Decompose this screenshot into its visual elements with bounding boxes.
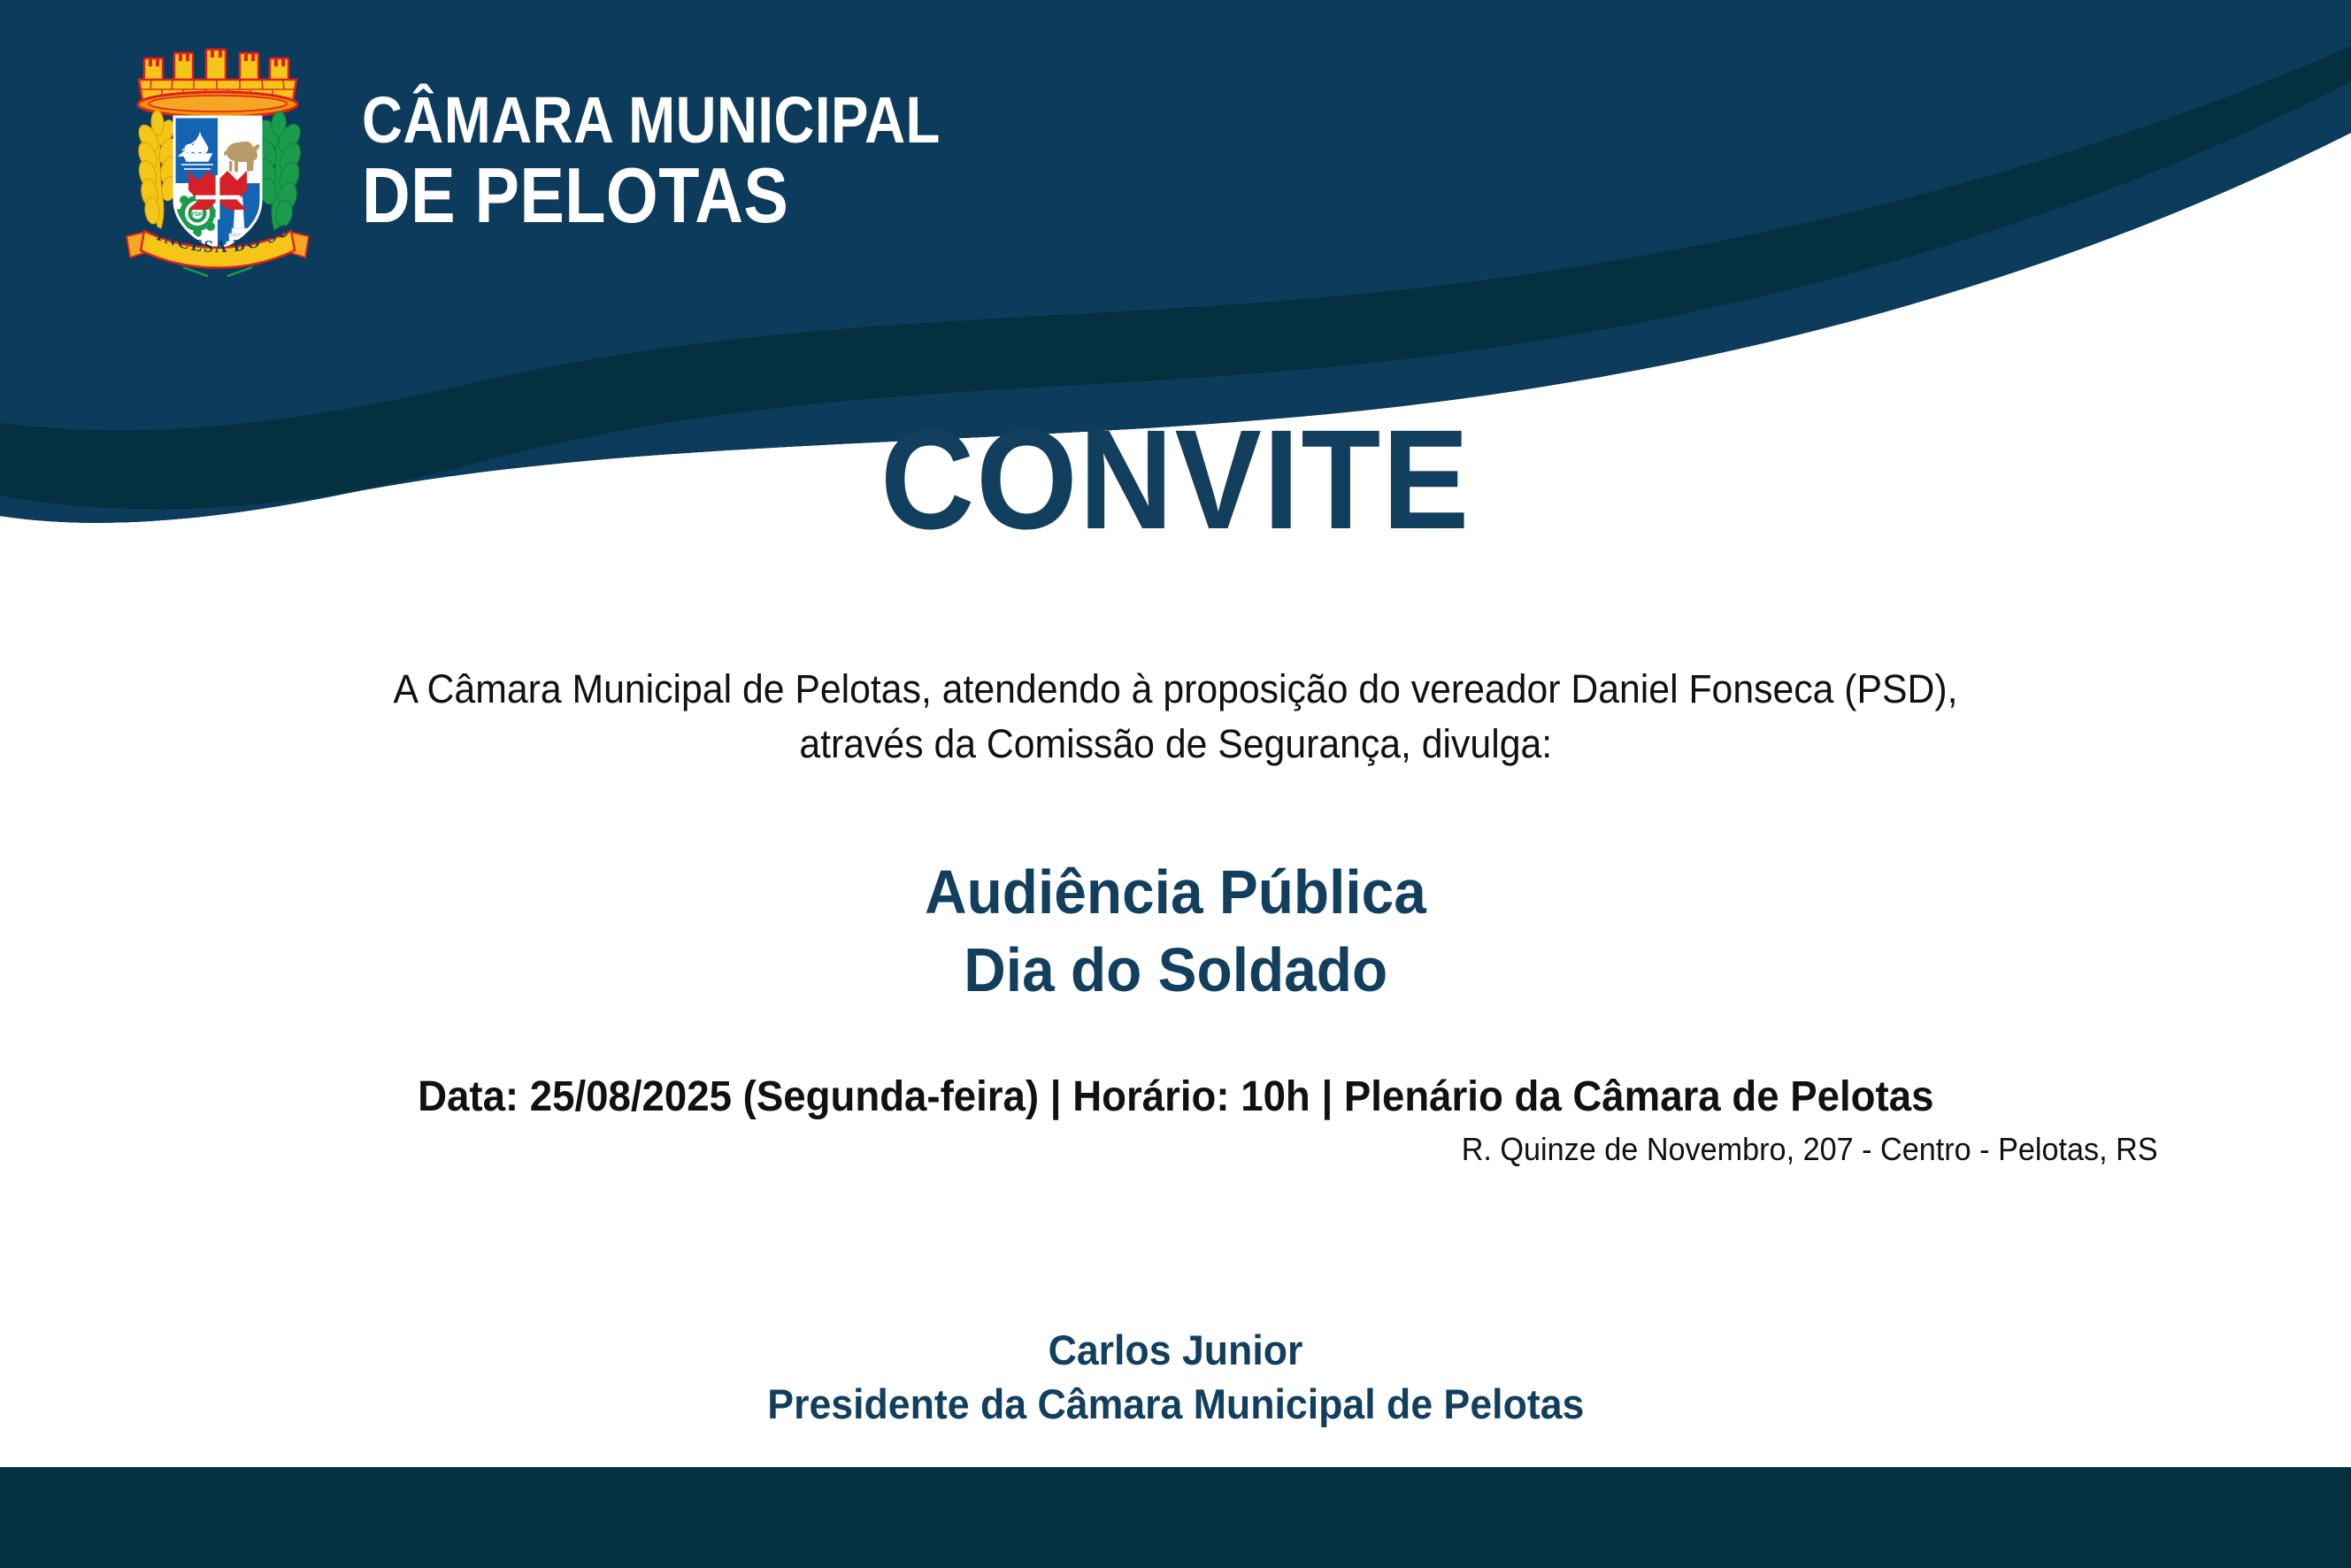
- signature-role-row: Presidente da Câmara Municipal de Pelota…: [0, 1377, 2351, 1431]
- mural-crown-icon: [138, 50, 297, 117]
- event-address-line: R. Quinze de Novembro, 207 - Centro - Pe…: [0, 1131, 2351, 1168]
- event-datetime-line: Data: 25/08/2025 (Segunda-feira) | Horár…: [0, 1072, 2351, 1121]
- laurel-branch-icon: [255, 111, 304, 230]
- footer-bar: [0, 1467, 2351, 1568]
- event-title-line-1: Audiência Pública: [925, 854, 1426, 932]
- header-title-line1: CÂMARA MUNICIPAL: [362, 88, 941, 153]
- header-title-line2: DE PELOTAS: [362, 158, 941, 234]
- event-title: Audiência Pública Dia do Soldado: [0, 854, 2351, 1009]
- event-datetime-text: Data: 25/08/2025 (Segunda-feira) | Horár…: [418, 1072, 1933, 1121]
- event-title-line-2: Dia do Soldado: [964, 932, 1387, 1010]
- event-address-text: R. Quinze de Novembro, 207 - Centro - Pe…: [1461, 1131, 2157, 1168]
- intro-paragraph: A Câmara Municipal de Pelotas, atendendo…: [0, 662, 2351, 772]
- intro-line-1: A Câmara Municipal de Pelotas, atendendo…: [393, 662, 1957, 717]
- signature-role: Presidente da Câmara Municipal de Pelota…: [767, 1377, 1584, 1431]
- header-wordmark: CÂMARA MUNICIPAL DE PELOTAS: [362, 88, 1034, 234]
- wheat-branch-icon: [135, 111, 179, 228]
- signature-block: Carlos Junior Presidente da Câmara Munic…: [0, 1323, 2351, 1431]
- signature-name: Carlos Junior: [1049, 1323, 1303, 1377]
- header-logo-block: FDP: [119, 42, 1034, 280]
- page-title: CONVITE: [0, 409, 2351, 550]
- brasao-pelotas-icon: FDP: [119, 42, 316, 280]
- page-title-text: CONVITE: [880, 409, 1471, 550]
- shield-icon: FDP: [174, 117, 261, 254]
- svg-text:FDP: FDP: [192, 212, 203, 218]
- signature-name-row: Carlos Junior: [0, 1323, 2351, 1377]
- intro-line-2: através da Comissão de Segurança, divulg…: [799, 717, 1552, 772]
